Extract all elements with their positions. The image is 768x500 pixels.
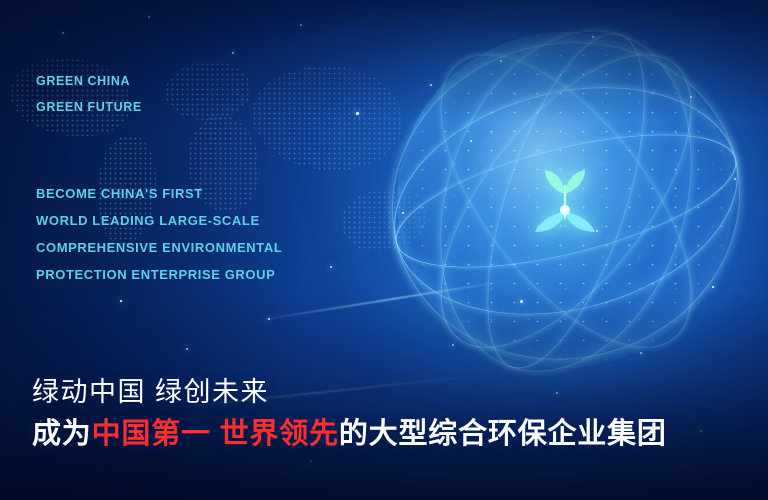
chinese-headline-line2: 成为中国第一 世界领先的大型综合环保企业集团: [32, 412, 667, 456]
chinese-line2-suffix: 的大型综合环保企业集团: [339, 418, 667, 450]
english-tagline-line: GREEN FUTURE: [36, 94, 142, 120]
english-tagline-top: GREEN CHINA GREEN FUTURE: [36, 68, 142, 120]
chinese-line2-highlight: 中国第一 世界领先: [92, 418, 339, 450]
english-statement-line: BECOME CHINA'S FIRST: [36, 180, 282, 207]
english-tagline-line: GREEN CHINA: [36, 68, 142, 94]
english-statement-line: PROTECTION ENTERPRISE GROUP: [36, 261, 282, 288]
english-statement-line: WORLD LEADING LARGE-SCALE: [36, 207, 282, 234]
english-statement: BECOME CHINA'S FIRST WORLD LEADING LARGE…: [36, 180, 282, 288]
chinese-headline-line1: 绿动中国 绿创未来: [32, 372, 667, 412]
english-statement-line: COMPREHENSIVE ENVIRONMENTAL: [36, 234, 282, 261]
hero-banner: GREEN CHINA GREEN FUTURE BECOME CHINA'S …: [0, 0, 768, 500]
chinese-line2-prefix: 成为: [32, 418, 92, 450]
chinese-headline: 绿动中国 绿创未来 成为中国第一 世界领先的大型综合环保企业集团: [32, 372, 667, 456]
